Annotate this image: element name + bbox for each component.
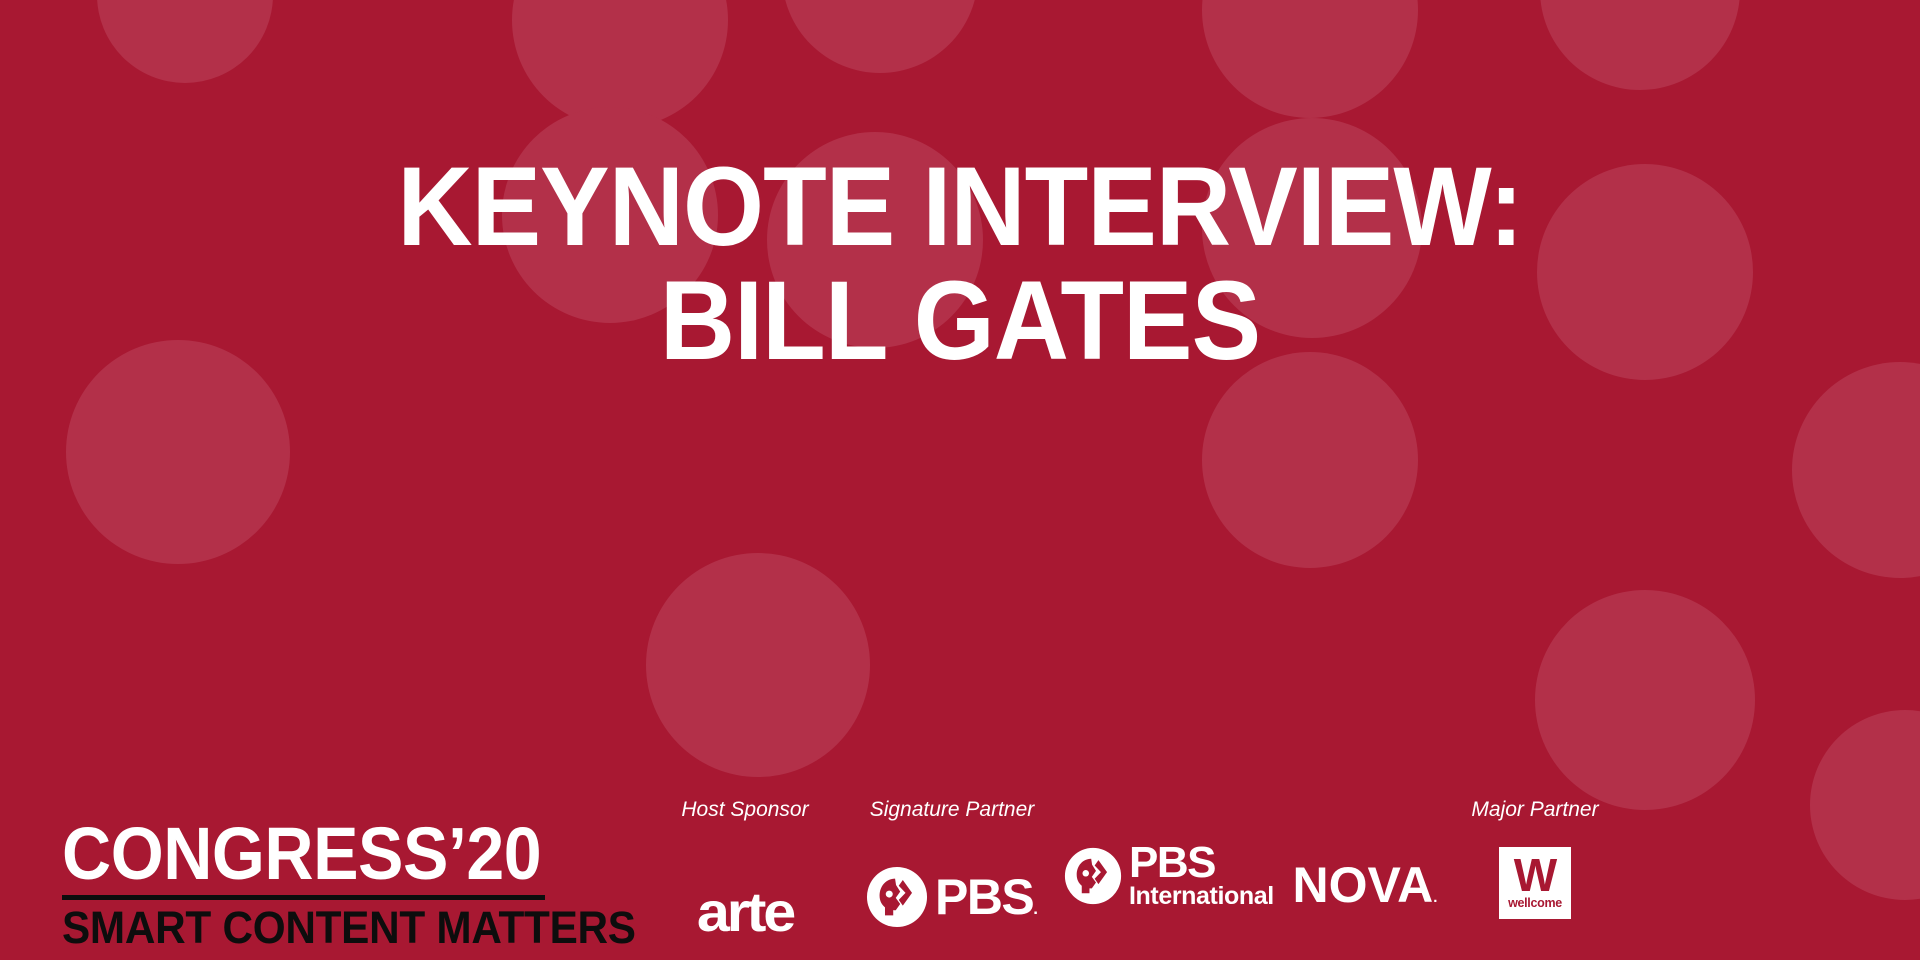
sponsor-strip: Host Sponsor arte Signature Partner PBS. [640, 790, 1920, 960]
sponsor-label-signature: Signature Partner [852, 798, 1052, 822]
sponsor-label-major: Major Partner [1430, 798, 1640, 822]
title-line-2: BILL GATES [132, 264, 1787, 378]
pbs-head-icon [866, 866, 928, 928]
sponsor-host: Host Sponsor arte [650, 798, 840, 940]
wellcome-logo: W wellcome [1499, 847, 1571, 919]
wellcome-w-mark: W [1514, 857, 1556, 895]
sponsor-major: Major Partner W wellcome [1430, 798, 1640, 919]
congress-wordmark: CONGRESS’20 [62, 819, 545, 889]
pbs-logo: PBS. [852, 866, 1052, 928]
congress-tagline: SMART CONTENT MATTERS [62, 905, 556, 950]
congress-logo: CONGRESS’20 SMART CONTENT MATTERS [62, 819, 587, 950]
pbs-head-icon [1064, 847, 1122, 905]
wellcome-wordmark: wellcome [1508, 897, 1562, 910]
sponsor-label-host: Host Sponsor [650, 798, 840, 822]
pbs-wordmark: PBS. [935, 874, 1038, 921]
congress-divider-rule [62, 895, 545, 900]
page-title: KEYNOTE INTERVIEW: BILL GATES [0, 150, 1920, 378]
sponsor-signature: Signature Partner PBS. [852, 798, 1052, 928]
title-line-1: KEYNOTE INTERVIEW: [132, 150, 1787, 264]
arte-logo: arte [644, 884, 845, 940]
